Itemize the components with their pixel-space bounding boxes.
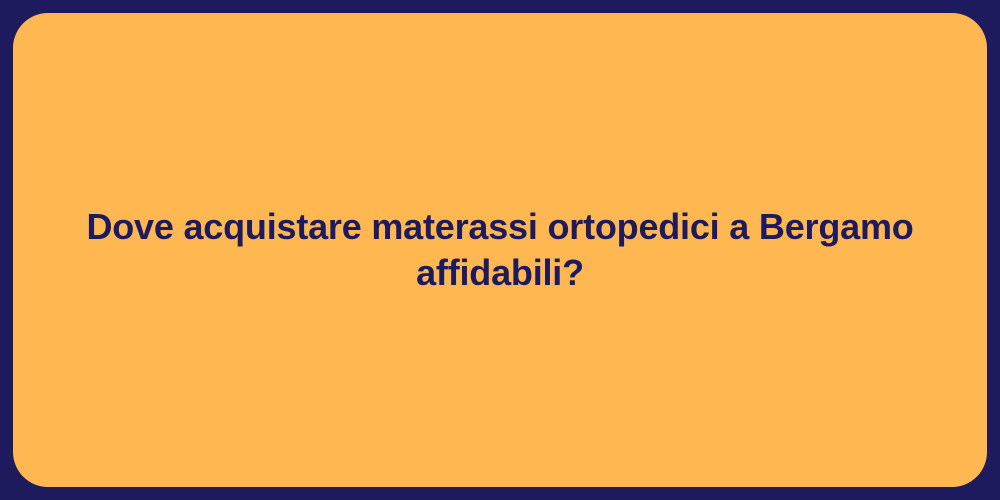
question-card: Dove acquistare materassi ortopedici a B… [13, 13, 987, 487]
page-title: Dove acquistare materassi ortopedici a B… [13, 204, 987, 296]
page-canvas: Dove acquistare materassi ortopedici a B… [0, 0, 1000, 500]
